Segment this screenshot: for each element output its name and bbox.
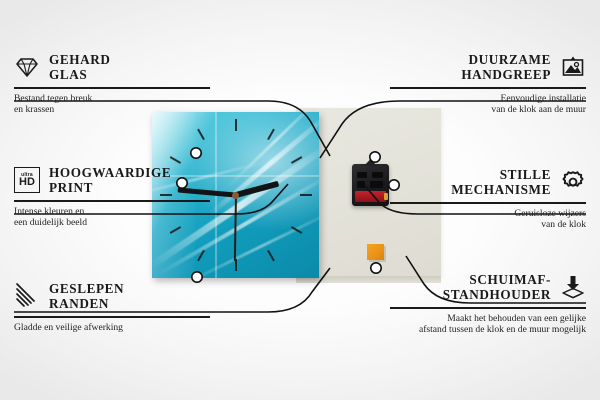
feature-title: HOOGWAARDIGE PRINT [49,165,171,195]
feature-divider [390,202,586,204]
feature-divider [14,316,210,318]
feature-title: GEHARD GLAS [49,52,110,82]
feature-header: DUURZAME HANDGREEP [390,52,586,82]
feature-description: Intense kleuren en een duidelijk beeld [14,206,210,229]
gear-icon [560,169,586,195]
clock-tick [235,119,237,131]
mechanism-slot [357,181,365,188]
feature-ground-edges: GESLEPEN RANDEN Gladde en veilige afwerk… [14,281,210,333]
foam-spacer-pad [367,244,384,260]
clock-mechanism [352,164,389,206]
feature-description: Eenvoudige installatie van de klok aan d… [390,93,586,116]
feature-description: Gladde en veilige afwerking [14,322,210,334]
feature-divider [390,87,586,89]
clock-tick [300,194,312,196]
clock-second-hand [233,195,236,261]
feature-tempered-glass: GEHARD GLAS Bestand tegen breuk en krass… [14,52,210,116]
feature-divider [14,200,210,202]
feature-description: Maakt het behouden van een gelijke afsta… [390,313,586,336]
clock-hand-cap [232,192,239,199]
diagonal-lines-icon [14,283,40,309]
clock-tick [197,129,205,140]
feature-header: GESLEPEN RANDEN [14,281,210,311]
feature-description: Bestand tegen breuk en krassen [14,93,210,116]
feature-divider [390,307,586,309]
battery [355,191,386,202]
feature-title: DUURZAME HANDGREEP [461,52,551,82]
feature-durable-handle: DUURZAME HANDGREEP Eenvoudige installati… [390,52,586,116]
feature-foam-spacer: SCHUIMAF- STANDHOUDER Maakt het behouden… [390,272,586,336]
mechanism-slot [357,172,367,178]
press-pad-icon [560,274,586,300]
feature-title: SCHUIMAF- STANDHOUDER [443,272,551,302]
product-feature-infographic: GEHARD GLAS Bestand tegen breuk en krass… [0,0,600,400]
diamond-icon [14,54,40,80]
feature-high-quality-print: ultra HD HOOGWAARDIGE PRINT Intense kleu… [14,165,210,229]
feature-title: GESLEPEN RANDEN [49,281,124,311]
ultra-hd-icon: ultra HD [14,167,40,193]
feature-silent-mechanism: STILLE MECHANISME Geruisloze wijzers van… [390,167,586,231]
picture-frame-icon [560,54,586,80]
mechanism-slot [372,172,383,178]
feature-header: GEHARD GLAS [14,52,210,82]
feature-description: Geruisloze wijzers van de klok [390,208,586,231]
feature-title: STILLE MECHANISME [451,167,551,197]
mechanism-slot [370,181,383,188]
feature-header: SCHUIMAF- STANDHOUDER [390,272,586,302]
clock-tick [267,129,275,140]
feature-header: STILLE MECHANISME [390,167,586,197]
feature-header: ultra HD HOOGWAARDIGE PRINT [14,165,210,195]
clock-tick [267,250,275,261]
feature-divider [14,87,210,89]
